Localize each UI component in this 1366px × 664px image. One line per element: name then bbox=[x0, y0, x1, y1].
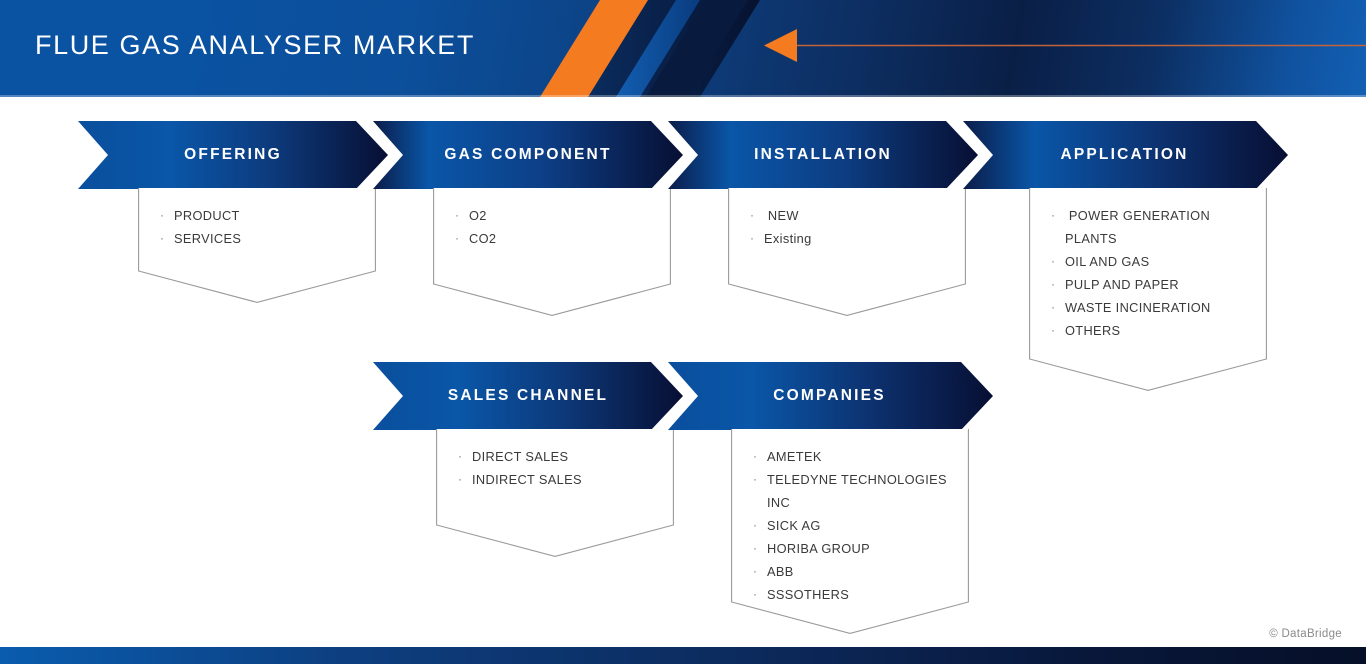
bullet-icon: · bbox=[753, 583, 767, 606]
bullet-icon: · bbox=[1051, 250, 1065, 273]
banner-gas-component[interactable] bbox=[373, 121, 683, 191]
page-header: FLUE GAS ANALYSER MARKET bbox=[0, 0, 1366, 97]
list-item: · SERVICES bbox=[160, 227, 364, 250]
bullet-icon: · bbox=[458, 468, 472, 491]
list-gas-component: · O2 · CO2 bbox=[433, 188, 671, 250]
banner-sales-channel[interactable] bbox=[373, 362, 683, 432]
header-underline bbox=[0, 95, 1366, 97]
bullet-icon: · bbox=[753, 468, 767, 491]
segment-companies[interactable]: COMPANIES · AMETEK · TELEDYNE TECHNOLOGI… bbox=[668, 362, 993, 637]
banner-offering[interactable] bbox=[78, 121, 388, 191]
bullet-icon: · bbox=[455, 227, 469, 250]
list-offering: · PRODUCT · SERVICES bbox=[138, 188, 376, 250]
list-item: · NEW bbox=[750, 204, 954, 227]
list-item: · WASTE INCINERATION bbox=[1051, 296, 1255, 319]
list-application: · POWER GENERATION PLANTS · OIL AND GAS … bbox=[1029, 188, 1267, 342]
bullet-icon: · bbox=[160, 204, 174, 227]
list-item: · PULP AND PAPER bbox=[1051, 273, 1255, 296]
list-item: · SICK AG bbox=[753, 514, 957, 537]
list-item: · SSSOTHERS bbox=[753, 583, 957, 606]
bullet-icon: · bbox=[1051, 296, 1065, 319]
page-title: FLUE GAS ANALYSER MARKET bbox=[35, 30, 475, 61]
bullet-icon: · bbox=[750, 204, 764, 227]
bullet-icon: · bbox=[1051, 273, 1065, 296]
banner-installation[interactable] bbox=[668, 121, 978, 191]
list-item: · DIRECT SALES bbox=[458, 445, 662, 468]
list-installation: · NEW · Existing bbox=[728, 188, 966, 250]
list-item: · ABB bbox=[753, 560, 957, 583]
list-item: · POWER GENERATION PLANTS bbox=[1051, 204, 1255, 250]
left-arrow-icon bbox=[764, 29, 797, 62]
bullet-icon: · bbox=[1051, 319, 1065, 342]
list-item: · INDIRECT SALES bbox=[458, 468, 662, 491]
segment-sales-channel[interactable]: SALES CHANNEL · DIRECT SALES · INDIRECT … bbox=[373, 362, 683, 557]
bullet-icon: · bbox=[753, 560, 767, 583]
list-item: · CO2 bbox=[455, 227, 659, 250]
footer-bar bbox=[0, 647, 1366, 664]
banner-companies[interactable] bbox=[668, 362, 993, 432]
bullet-icon: · bbox=[458, 445, 472, 468]
bullet-icon: · bbox=[160, 227, 174, 250]
list-sales-channel: · DIRECT SALES · INDIRECT SALES bbox=[436, 429, 674, 491]
segment-offering[interactable]: OFFERING · PRODUCT · SERVICES bbox=[78, 121, 388, 301]
list-item: · HORIBA GROUP bbox=[753, 537, 957, 560]
bullet-icon: · bbox=[750, 227, 764, 250]
list-item: · O2 bbox=[455, 204, 659, 227]
segment-gas-component[interactable]: GAS COMPONENT · O2 · CO2 bbox=[373, 121, 683, 316]
list-item: · AMETEK bbox=[753, 445, 957, 468]
bullet-icon: · bbox=[1051, 204, 1065, 227]
list-item: · Existing bbox=[750, 227, 954, 250]
bullet-icon: · bbox=[753, 445, 767, 468]
list-item: · TELEDYNE TECHNOLOGIES INC bbox=[753, 468, 957, 514]
copyright-label: © DataBridge bbox=[1269, 628, 1342, 640]
list-item: · PRODUCT bbox=[160, 204, 364, 227]
list-item: · OTHERS bbox=[1051, 319, 1255, 342]
segment-installation[interactable]: INSTALLATION · NEW · Existing bbox=[668, 121, 978, 316]
list-companies: · AMETEK · TELEDYNE TECHNOLOGIES INC · S… bbox=[731, 429, 969, 606]
bullet-icon: · bbox=[753, 514, 767, 537]
segment-application[interactable]: APPLICATION · POWER GENERATION PLANTS · … bbox=[963, 121, 1288, 391]
banner-application[interactable] bbox=[963, 121, 1288, 191]
infographic-slide: FLUE GAS ANALYSER MARKET OFFERING · PROD… bbox=[0, 0, 1366, 664]
bullet-icon: · bbox=[753, 537, 767, 560]
bullet-icon: · bbox=[455, 204, 469, 227]
list-item: · OIL AND GAS bbox=[1051, 250, 1255, 273]
